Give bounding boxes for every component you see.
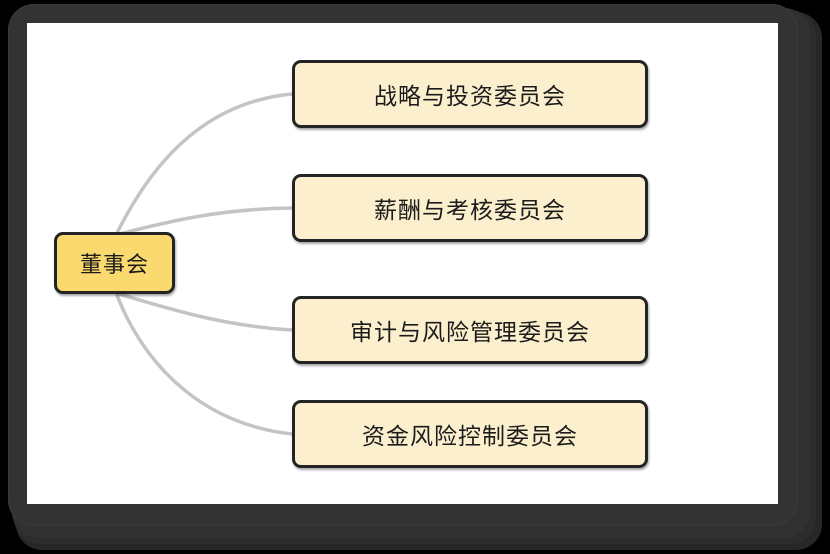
- device-frame: 董事会 战略与投资委员会 薪酬与考核委员会 审计与风险管理委员会 资金风险控制委…: [0, 0, 830, 554]
- node-capital-risk-control-committee[interactable]: 资金风险控制委员会: [292, 400, 648, 468]
- node-remuneration-appraisal-committee[interactable]: 薪酬与考核委员会: [292, 174, 648, 242]
- node-board[interactable]: 董事会: [54, 232, 175, 294]
- edge-board-to-audit-risk-management-committee: [119, 294, 292, 330]
- edge-board-to-capital-risk-control-committee: [117, 295, 292, 434]
- edge-board-to-remuneration-appraisal-committee: [119, 208, 292, 234]
- diagram-canvas: 董事会 战略与投资委员会 薪酬与考核委员会 审计与风险管理委员会 资金风险控制委…: [27, 23, 778, 504]
- node-audit-risk-management-committee[interactable]: 审计与风险管理委员会: [292, 296, 648, 364]
- node-strategy-investment-committee[interactable]: 战略与投资委员会: [292, 60, 648, 128]
- edge-board-to-strategy-investment-committee: [117, 94, 292, 233]
